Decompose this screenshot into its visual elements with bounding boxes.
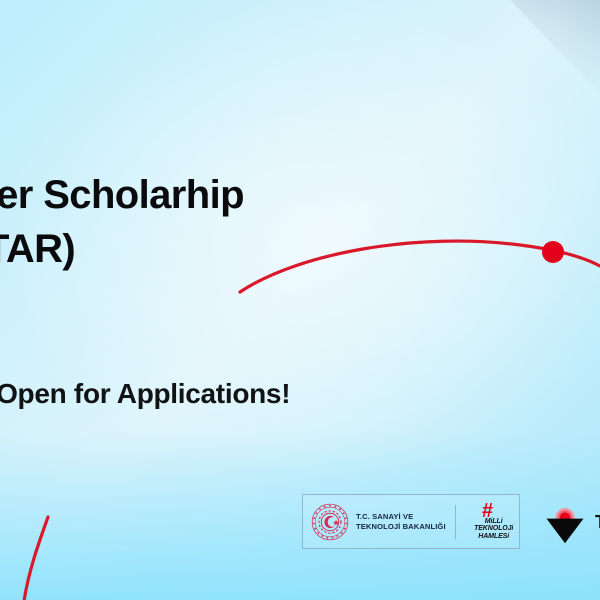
mth-line-1: MiLLi xyxy=(466,518,522,526)
milli-teknoloji-hamlesi-logo: # MiLLi TEKNOLOJi HAMLESi xyxy=(466,502,522,542)
milli-teknoloji-wordmark: MiLLi TEKNOLOJi HAMLESi xyxy=(466,518,522,541)
logo-divider xyxy=(455,505,456,539)
ministry-logo: T.C. SANAYİ VE TEKNOLOJİ BAKANLIĞI xyxy=(303,503,446,541)
tubitak-wordmark: T xyxy=(595,512,600,533)
red-accent-curve xyxy=(24,517,48,600)
mth-line-3: HAMLESi xyxy=(466,533,522,541)
ministry-wordmark: T.C. SANAYİ VE TEKNOLOJİ BAKANLIĞI xyxy=(356,512,446,532)
banner-subtitle: lls are Open for Applications! xyxy=(0,377,600,411)
tubitak-triangle-emblem xyxy=(543,501,587,545)
headline-line-1: archer Scholarhip xyxy=(0,173,244,217)
headline-line-2: e (STAR) xyxy=(0,222,600,276)
banner-headline: archer Scholarhip e (STAR) xyxy=(0,168,600,276)
promo-banner: archer Scholarhip e (STAR) lls are Open … xyxy=(0,0,600,600)
ministry-text-line-2: TEKNOLOJİ BAKANLIĞI xyxy=(356,522,446,532)
ministry-text-line-1: T.C. SANAYİ VE xyxy=(356,512,446,522)
subtitle-bold-part: Open for Applications! xyxy=(0,378,290,409)
ministry-logo-lockup: T.C. SANAYİ VE TEKNOLOJİ BAKANLIĞI # MiL… xyxy=(302,494,520,549)
mth-line-2: TEKNOLOJi xyxy=(466,525,522,533)
turkey-ministry-emblem xyxy=(311,503,349,541)
corner-wedge xyxy=(490,0,600,104)
tubitak-logo: T xyxy=(543,495,600,550)
